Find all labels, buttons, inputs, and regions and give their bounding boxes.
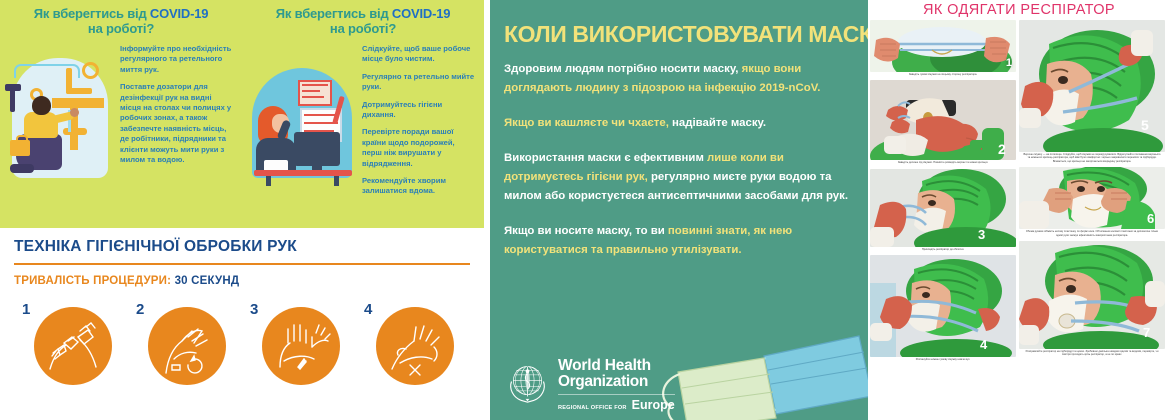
workplace-card-2: Як вберегтись від COVID-19 на роботі? [242,0,484,228]
photo-3-caption: Прикладіть респіратор до обличчя. [870,247,1016,253]
plumber-washing-hands-illustration [8,44,116,219]
mask-panel: КОЛИ ВИКОРИСТОВУВАТИ МАСКУ? Здоровим люд… [490,0,868,420]
respirator-column-right: 5 Верхню смужку — на потилицю. Слідкуйте… [1019,20,1165,366]
card-2-paragraph-1: Слідкуйте, щоб ваше робоче місце було чи… [362,44,476,65]
duration-line: ТРИВАЛІСТЬ ПРОЦЕДУРИ: 30 СЕКУНД [14,275,470,287]
photo-7-caption: Розправляйте респіратор на підборідді та… [1019,349,1165,359]
svg-text:4: 4 [980,337,988,352]
hand-opening-respirator-photo: 2 [870,80,1016,160]
hand-step-1: 1 [14,301,128,385]
respirator-photo-3: 3 Прикладіть респіратор до обличчя. [870,169,1016,253]
card-1-title-highlight: COVID-19 [150,6,208,21]
step-4-number: 4 [364,301,372,318]
who-regional-office-label: REGIONAL OFFICE FOR [558,405,627,411]
workplace-advice-band: Як вберегтись від COVID-19 на роботі? [0,0,484,228]
photo-1-caption: Заведіть гумові смужки на лицьову сторон… [870,72,1016,78]
card-2-text: Слідкуйте, щоб ваше робоче місце було чи… [362,44,476,219]
card-2-title-part1: Як вберегтись від [276,6,392,21]
photo-1-number: 1 [1006,57,1012,69]
svg-text:7: 7 [1143,325,1150,340]
mask-panel-title: КОЛИ ВИКОРИСТОВУВАТИ МАСКУ? [504,22,854,46]
lower-strap-below-ears-photo: 4 [870,255,1016,357]
mask-paragraph-4: Якщо ви носите маску, то ви повинні знат… [504,222,854,260]
hand-hygiene-steps: 1 2 [14,301,470,385]
hand-hygiene-section: ТЕХНІКА ГІГІЄНІЧНОЇ ОБРОБКИ РУК ТРИВАЛІС… [0,228,484,420]
card-2-title-part2: на роботі? [330,21,396,36]
hand-interlace-fingers-icon [262,307,340,385]
hand-apply-sanitizer-icon [34,307,112,385]
card-1-text: Інформуйте про необхідність регулярного … [120,44,234,219]
hand-step-4: 4 [356,301,470,385]
hand-hygiene-title: ТЕХНІКА ГІГІЄНІЧНОЇ ОБРОБКИ РУК [14,238,470,256]
who-logo: World Health Organization REGIONAL OFFIC… [504,358,675,412]
title-divider [14,263,470,265]
fit-check-respirator-photo: 7 [1019,241,1165,349]
photo-6-caption: Обома руками обіжміть носову пластинку п… [1019,229,1165,239]
card-1-paragraph-1: Інформуйте про необхідність регулярного … [120,44,234,75]
step-1-number: 1 [22,301,30,318]
respirator-photo-5: 5 Верхню смужку — на потилицю. Слідкуйте… [1019,20,1165,165]
surgical-masks-illustration [644,310,868,420]
mask-p4-seg1: Якщо ви носите маску, то ви [504,225,668,237]
step-3-number: 3 [250,301,258,318]
who-line-1: World Health [558,358,675,374]
card-2-title: Як вберегтись від COVID-19 на роботі? [250,6,476,36]
respirator-photo-1: 1 Заведіть гумові смужки на лицьову стор… [870,20,1016,78]
respirator-column-left: 1 Заведіть гумові смужки на лицьову стор… [870,20,1016,366]
card-2-paragraph-5: Рекомендуйте хворим залишатися вдома. [362,176,476,197]
respirator-photo-6: 6 Обома руками обіжміть носову пластинку… [1019,167,1165,239]
step-2-number: 2 [136,301,144,318]
card-2-title-highlight: COVID-19 [392,6,450,21]
respirator-panel: ЯК ОДЯГАТИ РЕСПІРАТОР [868,0,1170,420]
mask-p3-seg1: Використання маски є ефективним [504,152,707,164]
card-1-title: Як вберегтись від COVID-19 на роботі? [8,6,234,36]
shaping-nose-clip-photo: 6 [1019,167,1165,229]
upper-strap-behind-head-photo: 5 [1019,20,1165,152]
mask-panel-body: Здоровим людям потрібно носити маску, як… [504,60,854,260]
respirator-photo-4: 4 Розташуйте нижню гумову смужку нижче в… [870,255,1016,363]
hand-step-2: 2 [128,301,242,385]
mask-paragraph-3: Використання маски є ефективним лише кол… [504,149,854,206]
who-region: Europe [632,398,675,412]
who-line-2: Organization [558,374,675,390]
infographic-page: Як вберегтись від COVID-19 на роботі? [0,0,1170,420]
mask-paragraph-1: Здоровим людям потрібно носити маску, як… [504,60,854,98]
left-column: Як вберегтись від COVID-19 на роботі? [0,0,490,420]
card-2-paragraph-4: Перевірте поради вашої країни щодо подор… [362,127,476,169]
svg-text:6: 6 [1147,211,1154,226]
svg-text:2: 2 [998,141,1006,157]
photo-4-caption: Розташуйте нижню гумову смужку нижче вух… [870,357,1016,363]
mask-paragraph-2: Якщо ви кашляєте чи чхаєте, надівайте ма… [504,114,854,133]
duration-value: 30 СЕКУНД [175,275,240,287]
hand-rub-palm-icon [148,307,226,385]
photo-2-caption: Заведіть долоню під смужки. Повністю роз… [870,160,1016,166]
card-2-paragraph-3: Дотримуйтесь гігієни дихання. [362,100,476,121]
svg-text:3: 3 [978,227,985,242]
hand-step-3: 3 [242,301,356,385]
card-1-paragraph-2: Поставте дозатори для дезінфекції рук на… [120,82,234,165]
respirator-photo-7: 7 Розправляйте респіратор на підборідді … [1019,241,1165,359]
respirator-photo-2: 2 Заведіть долоню під смужки. Повністю р… [870,80,1016,166]
hand-rub-back-icon [376,307,454,385]
respirator-photo-grid: 1 Заведіть гумові смужки на лицьову стор… [868,18,1170,366]
office-worker-at-desk-illustration [250,44,358,219]
photo-5-caption: Верхню смужку — на потилицю. Слідкуйте, … [1019,152,1165,165]
hands-holding-respirator-photo: 1 [870,20,1016,72]
mask-p2-seg2: надівайте маску. [672,117,766,129]
mask-p2-seg1: Якщо ви кашляєте чи чхаєте, [504,117,672,129]
card-1-title-part2: на роботі? [88,21,154,36]
who-emblem-icon [504,358,551,405]
card-1-title-part1: Як вберегтись від [34,6,150,21]
svg-text:5: 5 [1141,117,1149,133]
workplace-card-1: Як вберегтись від COVID-19 на роботі? [0,0,242,228]
card-2-paragraph-2: Регулярно та ретельно мийте руки. [362,72,476,93]
duration-label: ТРИВАЛІСТЬ ПРОЦЕДУРИ: [14,275,171,287]
mask-p1-seg1: Здоровим людям потрібно носити маску, [504,63,742,75]
placing-respirator-on-face-photo: 3 [870,169,1016,247]
respirator-panel-title: ЯК ОДЯГАТИ РЕСПІРАТОР [868,0,1170,18]
